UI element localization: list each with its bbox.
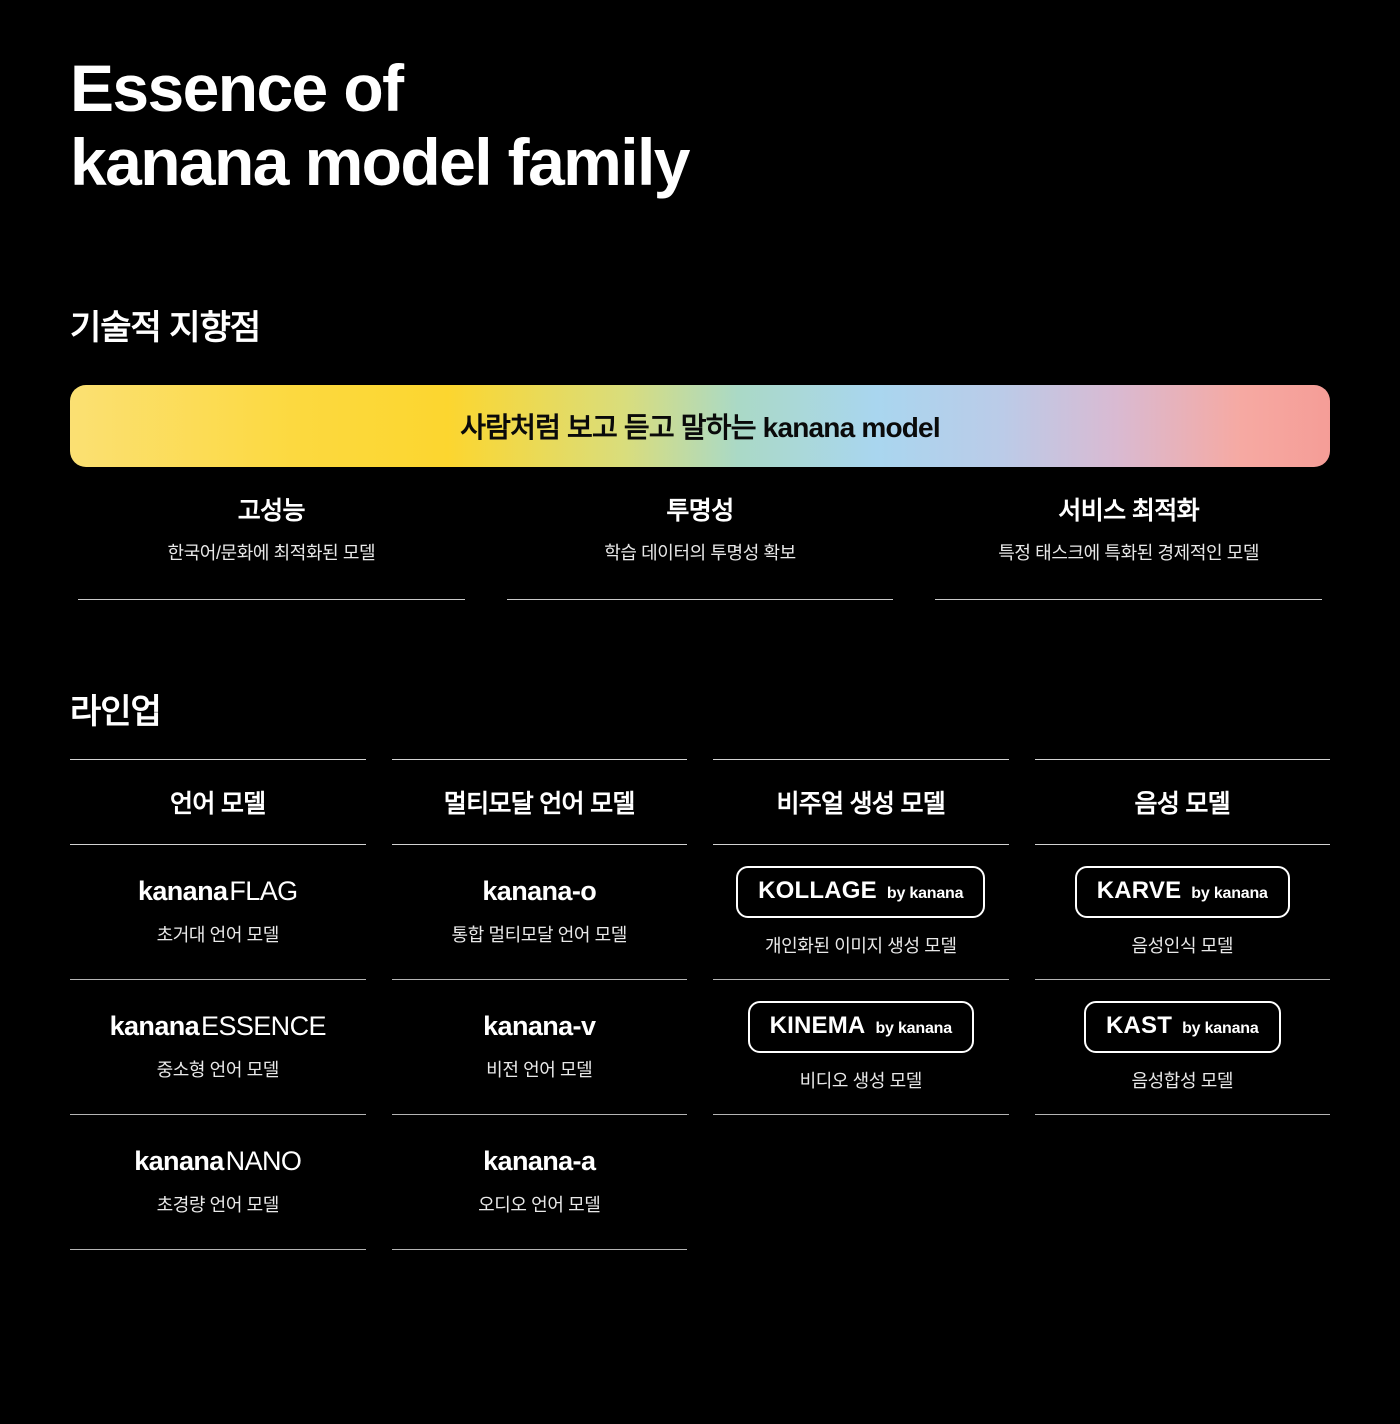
- feature-title: 고성능: [78, 491, 465, 527]
- column-header-label: 언어 모델: [170, 784, 265, 820]
- model-name: kanana-a: [483, 1147, 595, 1177]
- section-heading-tech: 기술적 지향점: [70, 300, 1330, 349]
- tech-feature-row: 고성능 한국어/문화에 최적화된 모델 투명성 학습 데이터의 투명성 확보 서…: [70, 491, 1330, 600]
- model-badge[interactable]: KAST by kanana: [1084, 1001, 1281, 1053]
- model-name: kananaFLAG: [138, 877, 298, 907]
- badge-sub-label: by kanana: [1191, 885, 1267, 903]
- model-brand: kanana-a: [483, 1146, 595, 1176]
- feature-item-1: 투명성 학습 데이터의 투명성 확보: [499, 491, 902, 600]
- model-badge[interactable]: KOLLAGE by kanana: [736, 866, 985, 918]
- badge-main-label: KAST: [1106, 1012, 1172, 1040]
- column-divider-bottom: [1035, 1114, 1331, 1115]
- model-brand: kanana-v: [483, 1011, 595, 1041]
- model-name: kanana-o: [482, 877, 596, 907]
- model-cell[interactable]: kananaFLAG 초거대 언어 모델: [70, 845, 366, 979]
- lineup-column-speech: 음성 모델 KARVE by kanana 음성인식 모델 KAST by ka…: [1035, 759, 1331, 1250]
- model-brand: kanana: [134, 1146, 223, 1176]
- poster-root: Essence of kanana model family 기술적 지향점 사…: [0, 0, 1400, 1424]
- model-desc: 오디오 언어 모델: [478, 1191, 600, 1217]
- model-badge[interactable]: KINEMA by kanana: [748, 1001, 974, 1053]
- model-desc: 음성인식 모델: [1131, 932, 1233, 958]
- feature-item-2: 서비스 최적화 특정 태스크에 특화된 경제적인 모델: [927, 491, 1330, 600]
- column-header-cell: 비주얼 생성 모델: [713, 760, 1009, 844]
- model-brand: kanana-o: [482, 876, 596, 906]
- model-desc: 비디오 생성 모델: [800, 1067, 922, 1093]
- column-divider-bottom: [392, 1249, 688, 1250]
- column-header-label: 비주얼 생성 모델: [776, 784, 945, 820]
- model-desc: 통합 멀티모달 언어 모델: [452, 921, 627, 947]
- badge-main-label: KOLLAGE: [758, 877, 877, 905]
- model-desc: 초경량 언어 모델: [157, 1191, 279, 1217]
- model-cell[interactable]: kanana-v 비전 언어 모델: [392, 980, 688, 1114]
- model-desc: 비전 언어 모델: [486, 1056, 592, 1082]
- column-header-cell: 멀티모달 언어 모델: [392, 760, 688, 844]
- lineup-grid: 언어 모델 kananaFLAG 초거대 언어 모델 kananaESSENCE…: [70, 759, 1330, 1250]
- column-divider-bottom: [713, 1114, 1009, 1115]
- model-cell[interactable]: kananaNANO 초경량 언어 모델: [70, 1115, 366, 1249]
- section-heading-lineup: 라인업: [70, 684, 1330, 733]
- model-cell[interactable]: KARVE by kanana 음성인식 모델: [1035, 845, 1331, 979]
- model-cell[interactable]: kanana-o 통합 멀티모달 언어 모델: [392, 845, 688, 979]
- lineup-column-multimodal: 멀티모달 언어 모델 kanana-o 통합 멀티모달 언어 모델 kanana…: [392, 759, 688, 1250]
- feature-divider: [78, 599, 465, 600]
- model-variant: NANO: [226, 1146, 302, 1176]
- model-name: kananaESSENCE: [110, 1012, 326, 1042]
- model-desc: 개인화된 이미지 생성 모델: [765, 932, 957, 958]
- feature-item-0: 고성능 한국어/문화에 최적화된 모델: [70, 491, 473, 600]
- badge-sub-label: by kanana: [887, 885, 963, 903]
- model-badge[interactable]: KARVE by kanana: [1075, 866, 1290, 918]
- model-cell[interactable]: KAST by kanana 음성합성 모델: [1035, 980, 1331, 1114]
- model-cell[interactable]: kananaESSENCE 중소형 언어 모델: [70, 980, 366, 1114]
- badge-main-label: KARVE: [1097, 877, 1182, 905]
- column-divider-bottom: [70, 1249, 366, 1250]
- model-desc: 중소형 언어 모델: [157, 1056, 279, 1082]
- tech-gradient-banner: 사람처럼 보고 듣고 말하는 kanana model: [70, 385, 1330, 467]
- model-variant: FLAG: [229, 876, 297, 906]
- badge-sub-label: by kanana: [1182, 1020, 1258, 1038]
- model-brand: kanana: [138, 876, 227, 906]
- model-desc: 초거대 언어 모델: [157, 921, 279, 947]
- badge-main-label: KINEMA: [770, 1012, 866, 1040]
- feature-desc: 특정 태스크에 특화된 경제적인 모델: [935, 539, 1322, 565]
- feature-desc: 학습 데이터의 투명성 확보: [507, 539, 894, 565]
- column-header-cell: 음성 모델: [1035, 760, 1331, 844]
- model-cell[interactable]: KINEMA by kanana 비디오 생성 모델: [713, 980, 1009, 1114]
- lineup-column-visual: 비주얼 생성 모델 KOLLAGE by kanana 개인화된 이미지 생성 …: [713, 759, 1009, 1250]
- column-header-label: 멀티모달 언어 모델: [444, 784, 635, 820]
- model-desc: 음성합성 모델: [1131, 1067, 1233, 1093]
- model-name: kananaNANO: [134, 1147, 301, 1177]
- model-brand: kanana: [110, 1011, 199, 1041]
- hero-title-line-1: Essence of: [70, 52, 1330, 126]
- feature-desc: 한국어/문화에 최적화된 모델: [78, 539, 465, 565]
- hero-title-line-2: kanana model family: [70, 126, 1330, 200]
- column-header-label: 음성 모델: [1135, 784, 1230, 820]
- feature-title: 서비스 최적화: [935, 491, 1322, 527]
- lineup-column-language: 언어 모델 kananaFLAG 초거대 언어 모델 kananaESSENCE…: [70, 759, 366, 1250]
- feature-divider: [935, 599, 1322, 600]
- hero-title-block: Essence of kanana model family: [70, 0, 1330, 200]
- feature-divider: [507, 599, 894, 600]
- model-variant: ESSENCE: [201, 1011, 326, 1041]
- model-cell[interactable]: KOLLAGE by kanana 개인화된 이미지 생성 모델: [713, 845, 1009, 979]
- model-name: kanana-v: [483, 1012, 595, 1042]
- badge-sub-label: by kanana: [875, 1020, 951, 1038]
- tech-banner-text: 사람처럼 보고 듣고 말하는 kanana model: [460, 406, 940, 446]
- feature-title: 투명성: [507, 491, 894, 527]
- model-cell[interactable]: kanana-a 오디오 언어 모델: [392, 1115, 688, 1249]
- column-header-cell: 언어 모델: [70, 760, 366, 844]
